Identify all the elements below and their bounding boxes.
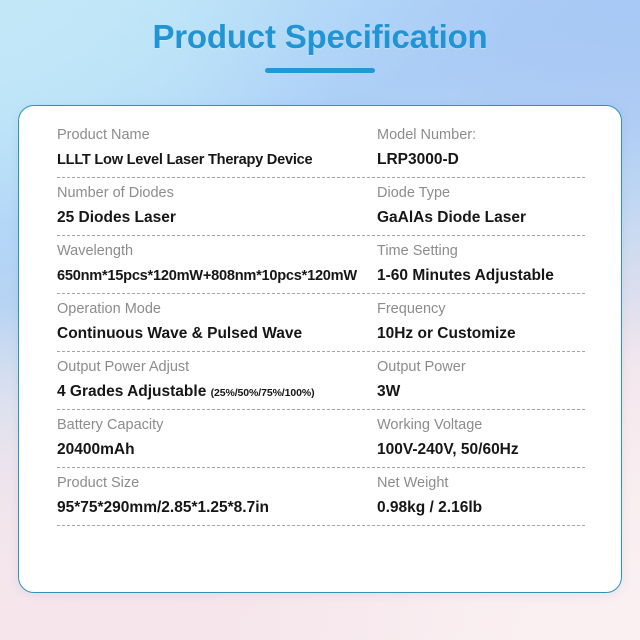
spec-value: 100V-240V, 50/60Hz bbox=[377, 438, 585, 462]
spec-label: Model Number: bbox=[377, 125, 585, 145]
spec-row: Product NameLLLT Low Level Laser Therapy… bbox=[19, 120, 622, 177]
spec-cell-right: Time Setting1-60 Minutes Adjustable bbox=[377, 241, 585, 293]
title-underline bbox=[265, 68, 375, 73]
spec-cell-left: Number of Diodes25 Diodes Laser bbox=[57, 183, 377, 235]
spec-row: Output Power Adjust4 Grades Adjustable (… bbox=[19, 352, 622, 409]
spec-value: LLLT Low Level Laser Therapy Device bbox=[57, 148, 377, 172]
spec-value: 0.98kg / 2.16lb bbox=[377, 496, 585, 520]
spec-row: Number of Diodes25 Diodes LaserDiode Typ… bbox=[19, 178, 622, 235]
spec-label: Net Weight bbox=[377, 473, 585, 493]
spec-value: 3W bbox=[377, 380, 585, 404]
spec-value-text: 650nm*15pcs*120mW+808nm*10pcs*120mW bbox=[57, 268, 357, 284]
spec-value: 4 Grades Adjustable (25%/50%/75%/100%) bbox=[57, 380, 377, 405]
spec-value: LRP3000-D bbox=[377, 148, 585, 172]
spec-cell-right: Model Number:LRP3000-D bbox=[377, 125, 585, 177]
spec-value-text: 95*75*290mm/2.85*1.25*8.7in bbox=[57, 499, 269, 516]
specification-card: Product NameLLLT Low Level Laser Therapy… bbox=[18, 105, 622, 593]
spec-cell-right: Net Weight0.98kg / 2.16lb bbox=[377, 473, 585, 525]
spec-value-text: 3W bbox=[377, 383, 400, 400]
spec-value-text: 0.98kg / 2.16lb bbox=[377, 499, 482, 516]
spec-cell-right: Diode TypeGaAlAs Diode Laser bbox=[377, 183, 585, 235]
spec-value-text: 100V-240V, 50/60Hz bbox=[377, 441, 519, 458]
spec-label: Battery Capacity bbox=[57, 415, 377, 435]
spec-value-text: 25 Diodes Laser bbox=[57, 209, 176, 226]
spec-value-text: Continuous Wave & Pulsed Wave bbox=[57, 325, 302, 342]
spec-label: Wavelength bbox=[57, 241, 377, 261]
spec-label: Number of Diodes bbox=[57, 183, 377, 203]
spec-value: 1-60 Minutes Adjustable bbox=[377, 264, 585, 288]
spec-cell-right: Frequency10Hz or Customize bbox=[377, 299, 585, 351]
spec-label: Time Setting bbox=[377, 241, 585, 261]
spec-value-text: LLLT Low Level Laser Therapy Device bbox=[57, 152, 312, 168]
spec-value: 650nm*15pcs*120mW+808nm*10pcs*120mW bbox=[57, 264, 377, 288]
spec-value: 10Hz or Customize bbox=[377, 322, 585, 346]
spec-value: GaAlAs Diode Laser bbox=[377, 206, 585, 230]
row-divider bbox=[57, 525, 585, 526]
spec-label: Product Size bbox=[57, 473, 377, 493]
spec-cell-left: Product NameLLLT Low Level Laser Therapy… bbox=[57, 125, 377, 177]
spec-cell-left: Output Power Adjust4 Grades Adjustable (… bbox=[57, 357, 377, 409]
spec-label: Output Power Adjust bbox=[57, 357, 377, 377]
spec-row: Operation ModeContinuous Wave & Pulsed W… bbox=[19, 294, 622, 351]
spec-value-text: 10Hz or Customize bbox=[377, 325, 516, 342]
spec-label: Diode Type bbox=[377, 183, 585, 203]
spec-label: Product Name bbox=[57, 125, 377, 145]
spec-value: Continuous Wave & Pulsed Wave bbox=[57, 322, 377, 346]
spec-row: Battery Capacity20400mAhWorking Voltage1… bbox=[19, 410, 622, 467]
spec-cell-left: Operation ModeContinuous Wave & Pulsed W… bbox=[57, 299, 377, 351]
spec-value-text: 1-60 Minutes Adjustable bbox=[377, 267, 554, 284]
spec-value-text: GaAlAs Diode Laser bbox=[377, 209, 526, 226]
header: Product Specification bbox=[0, 0, 640, 100]
spec-label: Output Power bbox=[377, 357, 585, 377]
spec-value-text: LRP3000-D bbox=[377, 151, 459, 168]
page-title: Product Specification bbox=[0, 0, 640, 57]
spec-cell-right: Working Voltage100V-240V, 50/60Hz bbox=[377, 415, 585, 467]
spec-value: 95*75*290mm/2.85*1.25*8.7in bbox=[57, 496, 377, 520]
spec-row: Product Size95*75*290mm/2.85*1.25*8.7inN… bbox=[19, 468, 622, 525]
specification-table: Product NameLLLT Low Level Laser Therapy… bbox=[19, 120, 622, 526]
spec-row: Wavelength650nm*15pcs*120mW+808nm*10pcs*… bbox=[19, 236, 622, 293]
spec-cell-right: Output Power3W bbox=[377, 357, 585, 409]
spec-label: Operation Mode bbox=[57, 299, 377, 319]
spec-cell-left: Product Size95*75*290mm/2.85*1.25*8.7in bbox=[57, 473, 377, 525]
spec-value: 20400mAh bbox=[57, 438, 377, 462]
spec-cell-left: Battery Capacity20400mAh bbox=[57, 415, 377, 467]
spec-label: Frequency bbox=[377, 299, 585, 319]
spec-value-text: 20400mAh bbox=[57, 441, 135, 458]
spec-label: Working Voltage bbox=[377, 415, 585, 435]
spec-value: 25 Diodes Laser bbox=[57, 206, 377, 230]
spec-value-text: 4 Grades Adjustable bbox=[57, 383, 206, 400]
spec-value-note: (25%/50%/75%/100%) bbox=[211, 387, 315, 399]
spec-cell-left: Wavelength650nm*15pcs*120mW+808nm*10pcs*… bbox=[57, 241, 377, 293]
